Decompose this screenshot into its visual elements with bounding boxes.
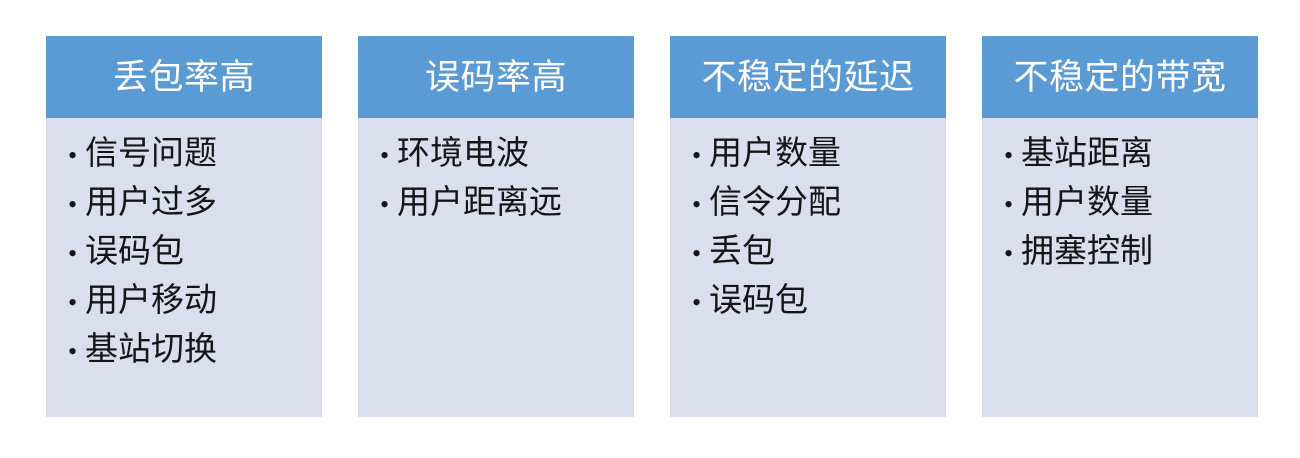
bullet-icon: • bbox=[1004, 180, 1021, 229]
list-item-label: 环境电波 bbox=[397, 130, 529, 179]
card-header: 不稳定的带宽 bbox=[982, 36, 1258, 118]
card-title: 丢包率高 bbox=[113, 60, 255, 95]
list-item-label: 基站距离 bbox=[1021, 130, 1153, 179]
card-title: 误码率高 bbox=[425, 60, 567, 95]
issue-card-bit-error-rate[interactable]: 误码率高 • 环境电波 • 用户距离远 bbox=[358, 36, 634, 417]
list-item[interactable]: • 用户数量 bbox=[692, 130, 936, 179]
list-item-label: 用户移动 bbox=[85, 277, 217, 326]
card-header: 误码率高 bbox=[358, 36, 634, 118]
card-body: • 用户数量 • 信令分配 • 丢包 • 误码包 bbox=[670, 118, 946, 417]
list-item[interactable]: • 用户距离远 bbox=[380, 179, 624, 228]
card-title: 不稳定的延迟 bbox=[701, 60, 914, 95]
bullet-icon: • bbox=[1004, 229, 1021, 278]
list-item[interactable]: • 拥塞控制 bbox=[1004, 228, 1248, 277]
bullet-icon: • bbox=[68, 278, 85, 327]
list-item-label: 用户过多 bbox=[85, 179, 217, 228]
list-item[interactable]: • 基站距离 bbox=[1004, 130, 1248, 179]
card-header: 不稳定的延迟 bbox=[670, 36, 946, 118]
list-item[interactable]: • 用户移动 bbox=[68, 277, 312, 326]
list-item-label: 基站切换 bbox=[85, 326, 217, 375]
issue-card-unstable-latency[interactable]: 不稳定的延迟 • 用户数量 • 信令分配 • 丢包 • 误码包 bbox=[670, 36, 946, 417]
list-item-label: 信令分配 bbox=[709, 179, 841, 228]
list-item-label: 用户距离远 bbox=[397, 179, 562, 228]
card-body: • 环境电波 • 用户距离远 bbox=[358, 118, 634, 417]
issue-card-unstable-bandwidth[interactable]: 不稳定的带宽 • 基站距离 • 用户数量 • 拥塞控制 bbox=[982, 36, 1258, 417]
cause-list: • 信号问题 • 用户过多 • 误码包 • 用户移动 • 基站切换 bbox=[68, 130, 312, 375]
list-item[interactable]: • 基站切换 bbox=[68, 326, 312, 375]
bullet-icon: • bbox=[380, 131, 397, 180]
list-item-label: 丢包 bbox=[709, 228, 775, 277]
bullet-icon: • bbox=[68, 180, 85, 229]
list-item[interactable]: • 信号问题 bbox=[68, 130, 312, 179]
issue-card-packet-loss[interactable]: 丢包率高 • 信号问题 • 用户过多 • 误码包 • 用户移动 bbox=[46, 36, 322, 417]
list-item-label: 误码包 bbox=[85, 228, 184, 277]
list-item[interactable]: • 信令分配 bbox=[692, 179, 936, 228]
list-item[interactable]: • 误码包 bbox=[68, 228, 312, 277]
card-body: • 信号问题 • 用户过多 • 误码包 • 用户移动 • 基站切换 bbox=[46, 118, 322, 417]
bullet-icon: • bbox=[692, 131, 709, 180]
bullet-icon: • bbox=[692, 180, 709, 229]
list-item[interactable]: • 误码包 bbox=[692, 277, 936, 326]
list-item-label: 拥塞控制 bbox=[1021, 228, 1153, 277]
cause-list: • 用户数量 • 信令分配 • 丢包 • 误码包 bbox=[692, 130, 936, 326]
cause-list: • 基站距离 • 用户数量 • 拥塞控制 bbox=[1004, 130, 1248, 277]
card-body: • 基站距离 • 用户数量 • 拥塞控制 bbox=[982, 118, 1258, 417]
list-item[interactable]: • 用户数量 bbox=[1004, 179, 1248, 228]
list-item[interactable]: • 用户过多 bbox=[68, 179, 312, 228]
list-item-label: 信号问题 bbox=[85, 130, 217, 179]
list-item-label: 误码包 bbox=[709, 277, 808, 326]
card-title: 不稳定的带宽 bbox=[1013, 60, 1226, 95]
bullet-icon: • bbox=[380, 180, 397, 229]
bullet-icon: • bbox=[68, 327, 85, 376]
list-item[interactable]: • 丢包 bbox=[692, 228, 936, 277]
bullet-icon: • bbox=[68, 131, 85, 180]
list-item[interactable]: • 环境电波 bbox=[380, 130, 624, 179]
list-item-label: 用户数量 bbox=[709, 130, 841, 179]
bullet-icon: • bbox=[1004, 131, 1021, 180]
bullet-icon: • bbox=[68, 229, 85, 278]
list-item-label: 用户数量 bbox=[1021, 179, 1153, 228]
bullet-icon: • bbox=[692, 229, 709, 278]
cards-board: 丢包率高 • 信号问题 • 用户过多 • 误码包 • 用户移动 bbox=[0, 0, 1300, 458]
bullet-icon: • bbox=[692, 278, 709, 327]
card-header: 丢包率高 bbox=[46, 36, 322, 118]
cause-list: • 环境电波 • 用户距离远 bbox=[380, 130, 624, 228]
